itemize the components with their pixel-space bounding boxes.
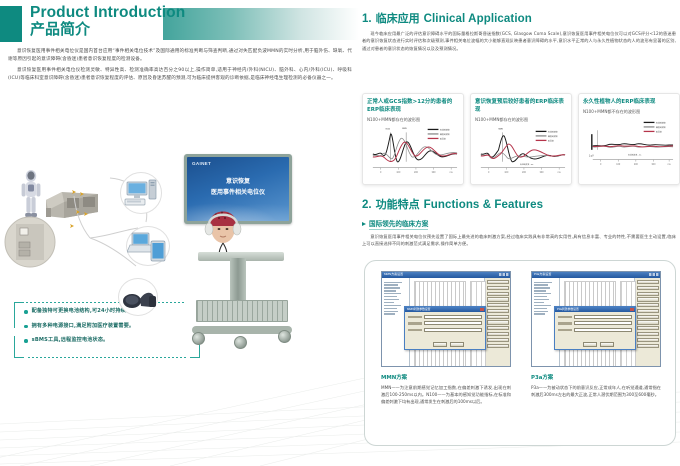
software-column-p3a: P3a方案设置 [531,271,661,405]
svg-text:差异波: 差异波 [656,129,662,133]
screen-title-line2: 医用事件相关电位仪 [187,187,289,196]
section2-body-text: 意识恢复医用事件相关电位仪预先设置了国际上最先进的临床刺激方案,经过临床实践具有… [362,233,676,248]
dialog-field-row[interactable] [408,321,482,325]
svg-text:100: 100 [504,172,509,174]
erp-card-title: 意识恢复预后较好患者的ERP临床表现 [475,98,567,114]
erp-card-good-prognosis: 意识恢复预后较好患者的ERP临床表现 N100+MMN都存在的波形图 0100 … [470,93,572,185]
erp-waveform-plot-good: 0100 200300 ms MMN 标准刺激波 - ms 标准刺激波 [475,124,567,176]
svg-text:MMN: MMN [402,128,407,130]
svg-text:差异波: 差异波 [548,138,554,142]
screen-title-line1: 意识恢复 [187,176,289,185]
svg-text:ms: ms [668,164,672,166]
svg-text:标准刺激波: 标准刺激波 [440,127,450,131]
window-controls-icon[interactable] [499,273,509,277]
section2-subheading: 国际领先的临床方案 [362,218,680,230]
dialog-title: MMN刺激参数设置 [407,307,430,311]
field-input[interactable] [424,315,482,319]
erp-card-title: 永久性植物人的ERP临床表现 [583,98,675,106]
intro-paragraph-1: 意识恢复医用事件相关电位仪是国内首台应用“事件相关电位技术”及国际通用的标准判断… [8,48,352,65]
dialog-field-row[interactable] [408,315,482,319]
window-title: MMN方案设置 [384,272,403,276]
field-label [558,329,572,331]
section-functions-features: 2. 功能特点 Functions & Features 国际领先的临床方案 意… [362,196,680,248]
section1-title-cn: 临床应用 [376,10,420,26]
trolley-base [192,326,292,334]
trolley-wheel [234,336,247,349]
robot-figure-icon [18,168,44,220]
product-intro-text: 意识恢复医用事件相关电位仪是国内首台应用“事件相关电位技术”及国际通用的标准判断… [8,48,352,86]
window-controls-icon[interactable] [649,273,659,277]
dialog-ok-button[interactable] [433,342,447,347]
svg-text:标准刺激波 - ms: 标准刺激波 - ms [628,152,641,156]
dialog-field-row[interactable] [558,315,632,319]
erp-card-subtitle: N100+MMN都存在的波形图 [367,117,459,123]
accessory-node [118,278,158,316]
dialog-buttons[interactable] [583,342,614,347]
erp-card-normal: 正常人或GCS指数>12分的患者的ERP临床表现 N100+MMN都存在的波形图… [362,93,464,185]
section2-title-cn: 功能特点 [376,196,420,212]
svg-text:ms: ms [558,172,562,174]
field-label [408,316,422,318]
software-screenshot-row: MMN方案设置 [365,271,677,405]
svg-text:偏差刺激波: 偏差刺激波 [656,125,666,129]
right-panel: 1. 临床应用 Clinical Application 现今临床应用最广泛的评… [362,0,680,466]
field-label [558,322,572,324]
dialog-field-row[interactable] [558,321,632,325]
dialog-buttons[interactable] [433,342,464,347]
svg-text:MMN: MMN [498,128,503,130]
trolley-wheel [192,332,205,345]
field-input[interactable] [424,321,482,325]
svg-text:200: 200 [414,172,419,174]
dialog-cancel-button[interactable] [600,342,614,347]
svg-text:300: 300 [652,164,657,166]
dialog-cancel-button[interactable] [450,342,464,347]
p3a-software-screenshot[interactable]: P3a方案设置 [531,271,661,367]
software-name-mmn: MMN方案 [381,373,511,381]
dialog-title: P3a刺激参数设置 [557,307,579,311]
dialog-field-row[interactable] [408,328,482,332]
parameter-dialog[interactable]: P3a刺激参数设置 [554,306,636,350]
field-input[interactable] [574,321,632,325]
erp-waveform-plot-flat: 0100 200300 ms 1 μV 标准刺激波 偏差刺激波 [583,116,675,168]
product-introduction-header: Product Introduction 产品简介 [0,6,358,42]
dialog-titlebar: P3a刺激参数设置 [555,307,635,312]
erp-waveform-plot-normal: 0100 200300 ms N100MMN 标准刺激波 [367,124,459,176]
erp-card-subtitle: N100+MMN都存在的波形图 [475,117,567,123]
trolley-cable-basket [196,300,288,322]
control-button-panel[interactable] [634,278,660,366]
desktop-pc-node [120,172,162,214]
window-title: P3a方案设置 [534,272,551,276]
svg-text:200: 200 [634,164,639,166]
svg-text:偏差刺激波: 偏差刺激波 [440,132,450,136]
section1-number: 1. [362,13,372,25]
section2-title: 2. 功能特点 Functions & Features [362,196,680,212]
field-label [558,316,572,318]
svg-text:0: 0 [380,172,382,174]
close-icon[interactable] [630,308,634,312]
header-gradient-bar [163,8,359,40]
header-title-cn: 产品简介 [30,21,185,38]
svg-text:200: 200 [522,172,527,174]
port-closeup-magnifier [4,216,56,268]
dialog-field-row[interactable] [558,328,632,332]
dialog-titlebar: MMN刺激参数设置 [405,307,485,312]
svg-text:标准刺激波: 标准刺激波 [656,120,666,124]
software-name-p3a: P3a方案 [531,373,661,381]
software-showcase-box: MMN方案设置 [364,260,676,446]
header-title-en: Product Introduction [30,4,185,21]
field-label [408,322,422,324]
screen-brand-logo: GAINET [192,161,211,166]
triangle-bullet-icon [362,222,366,226]
svg-text:100: 100 [396,172,401,174]
erp-card-vegetative: 永久性植物人的ERP临床表现 N100+MMN都不存在的波形图 0100 200… [578,93,680,185]
erp-card-title: 正常人或GCS指数>12分的患者的ERP临床表现 [367,98,459,114]
field-label [408,329,422,331]
svg-text:标准刺激波 - ms: 标准刺激波 - ms [520,162,533,166]
svg-text:300: 300 [540,172,545,174]
section2-subheading-label: 国际领先的临床方案 [369,218,428,230]
section1-body-text: 现今临床应用最广泛的评估意识障碍水平的国际量格拉斯哥昏迷指数(GCS, Glas… [362,30,676,52]
svg-text:0: 0 [488,172,490,174]
parameter-dialog[interactable]: MMN刺激参数设置 [404,306,486,350]
svg-text:300: 300 [432,172,437,174]
software-desc-mmn: MMN——为注意前期感觉记忆加工指数,在偏差刺激下诱发,出现在刺激后100-25… [381,384,511,405]
section-clinical-application: 1. 临床应用 Clinical Application 现今临床应用最广泛的评… [362,10,680,52]
software-column-mmn: MMN方案设置 [381,271,511,405]
control-button-panel[interactable] [484,278,510,366]
section1-title-en: Clinical Application [424,13,532,25]
svg-text:1 μV: 1 μV [589,155,594,157]
field-input[interactable] [574,328,632,332]
software-desc-p3a: P3a——为被动状态下的前意识反应,正常成年人,在听觉通道,通常指在刺激后300… [531,384,661,398]
field-input[interactable] [424,328,482,332]
close-icon[interactable] [480,308,484,312]
section1-title: 1. 临床应用 Clinical Application [362,10,680,26]
section2-number: 2. [362,199,372,211]
erp-trolley-system: GAINET 意识恢复 医用事件相关电位仪 [178,140,308,440]
header-accent-block [0,6,22,42]
section2-title-en: Functions & Features [424,199,544,211]
svg-text:偏差刺激波: 偏差刺激波 [548,133,558,137]
left-panel: Product Introduction 产品简介 意识恢复医用事件相关电位仪是… [0,0,358,466]
svg-text:标准刺激波: 标准刺激波 [548,129,558,133]
field-input[interactable] [574,315,632,319]
product-brochure-page: Product Introduction 产品简介 意识恢复医用事件相关电位仪是… [0,0,680,466]
erp-chart-cards: 正常人或GCS指数>12分的患者的ERP临床表现 N100+MMN都存在的波形图… [362,93,680,185]
dialog-ok-button[interactable] [583,342,597,347]
svg-text:100: 100 [616,164,621,166]
mmn-software-screenshot[interactable]: MMN方案设置 [381,271,511,367]
svg-text:差异波: 差异波 [440,136,446,140]
header-text-group: Product Introduction 产品简介 [30,4,185,38]
laptop-tablet-node [126,226,170,266]
erp-card-subtitle: N100+MMN都不存在的波形图 [583,109,675,115]
trolley-wheel [278,330,291,343]
svg-text:N100: N100 [386,128,390,130]
device-illustration: GAINET 意识恢复 医用事件相关电位仪 [0,130,358,450]
intro-paragraph-2: 意识恢复医用事件相关电位仪检测灵敏、特异性高、检测准确率高达百分之90以上,操作… [8,67,352,84]
svg-text:ms: ms [450,172,454,174]
svg-text:0: 0 [600,164,602,166]
